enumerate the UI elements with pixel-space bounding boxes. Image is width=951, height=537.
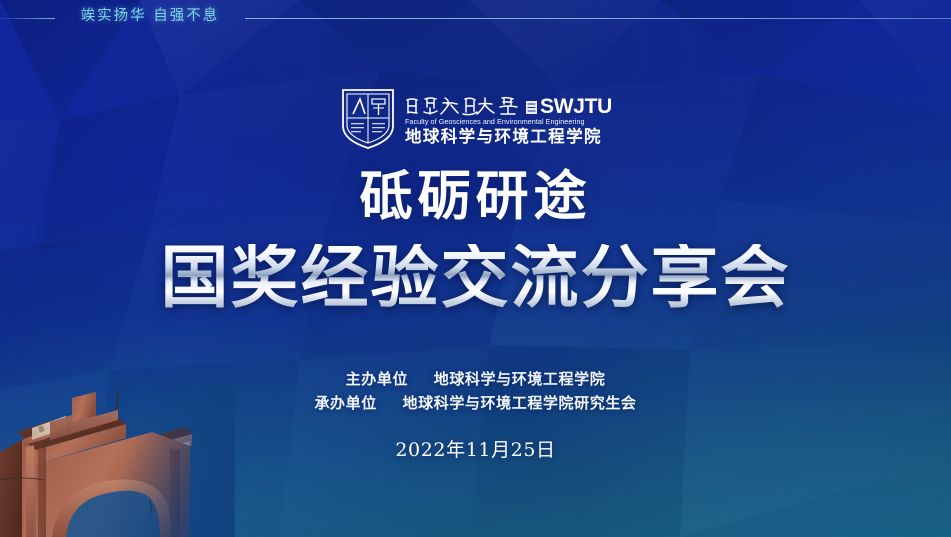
organizer-name-host: 地球科学与环境工程学院 xyxy=(434,370,606,388)
slide-title-line1: 砥砺研途 xyxy=(0,170,951,223)
logo-text-block: SWJTU Faculty of Geosciences and Environ… xyxy=(405,93,612,146)
motto-rule-right xyxy=(245,18,951,19)
logo-primary-row: SWJTU xyxy=(405,93,612,116)
motto-rule-left xyxy=(0,18,55,19)
slide-title-line2: 国奖经验交流分享会 xyxy=(0,244,951,312)
organizer-role-host: 主办单位 xyxy=(346,370,408,388)
institution-logo-lockup: SWJTU Faculty of Geosciences and Environ… xyxy=(0,88,951,150)
faculty-name-en: Faculty of Geosciences and Environmental… xyxy=(405,117,612,126)
organizer-role-coorganizer: 承办单位 xyxy=(314,394,376,412)
header-motto-bar: 竢实扬华 自强不息 xyxy=(0,0,951,40)
campus-gate-archway-photo xyxy=(0,382,235,537)
organizer-name-coorganizer: 地球科学与环境工程学院研究生会 xyxy=(403,394,637,412)
swjtu-shield-crest xyxy=(339,88,397,150)
presentation-slide: 竢实扬华 自强不息 xyxy=(0,0,951,537)
university-abbr: SWJTU xyxy=(540,96,612,117)
university-name-cn-calligraphy xyxy=(405,95,523,116)
faculty-name-cn: 地球科学与环境工程学院 xyxy=(405,127,612,146)
university-motto: 竢实扬华 自强不息 xyxy=(58,9,242,24)
logo-divider-mark xyxy=(526,100,537,115)
